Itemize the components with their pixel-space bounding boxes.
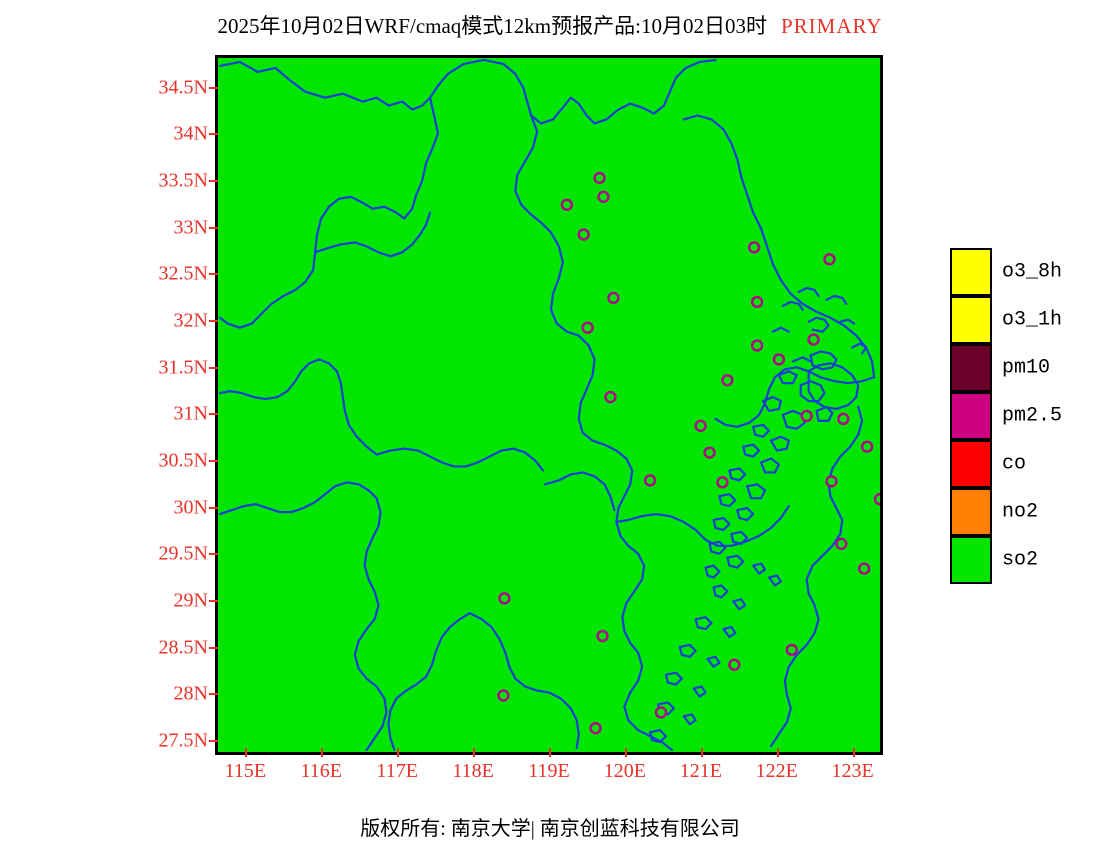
- y-axis-tick-mark: [209, 320, 218, 322]
- x-axis-tick-mark: [777, 748, 779, 757]
- x-axis-tick-mark: [549, 748, 551, 757]
- y-axis-tick-mark: [209, 87, 218, 89]
- y-axis-tick-mark: [209, 600, 218, 602]
- x-axis-tick-label: 120E: [604, 760, 646, 783]
- x-axis-tick-label: 123E: [832, 760, 874, 783]
- y-axis-tick-mark: [209, 180, 218, 182]
- legend-label-text: o3_1h: [1002, 309, 1062, 332]
- x-axis-tick-label: 116E: [301, 760, 342, 783]
- legend-item-so2[interactable]: so2: [950, 536, 1090, 584]
- legend-item-pm2-5[interactable]: pm2.5: [950, 392, 1090, 440]
- legend-color-swatch: [950, 488, 992, 536]
- x-axis-tick-mark: [701, 748, 703, 757]
- y-axis-tick-mark: [209, 553, 218, 555]
- x-axis-tick-mark: [853, 748, 855, 757]
- legend-label-text: co: [1002, 453, 1026, 476]
- legend-color-swatch: [950, 536, 992, 584]
- y-axis-tick-mark: [209, 740, 218, 742]
- x-axis-tick-mark: [245, 748, 247, 757]
- y-axis-tick-mark: [209, 647, 218, 649]
- legend-label-text: pm2.5: [1002, 405, 1062, 428]
- legend-color-swatch: [950, 440, 992, 488]
- y-axis-tick-mark: [209, 460, 218, 462]
- pollutant-legend: o3_8ho3_1hpm10pm2.5cono2so2: [950, 248, 1090, 584]
- legend-item-pm10[interactable]: pm10: [950, 344, 1090, 392]
- legend-color-swatch: [950, 296, 992, 344]
- y-axis-tick-mark: [209, 227, 218, 229]
- x-axis-tick-mark: [321, 748, 323, 757]
- x-axis-tick-label: 121E: [680, 760, 722, 783]
- legend-color-swatch: [950, 344, 992, 392]
- x-axis-tick-mark: [397, 748, 399, 757]
- legend-item-o3-1h[interactable]: o3_1h: [950, 296, 1090, 344]
- legend-item-o3-8h[interactable]: o3_8h: [950, 248, 1090, 296]
- x-axis-tick-label: 118E: [452, 760, 493, 783]
- x-axis-tick-label: 119E: [528, 760, 569, 783]
- legend-color-swatch: [950, 392, 992, 440]
- y-axis-tick-mark: [209, 693, 218, 695]
- x-axis-tick-label: 115E: [225, 760, 266, 783]
- y-axis-tick-mark: [209, 507, 218, 509]
- legend-label-text: pm10: [1002, 357, 1050, 380]
- y-axis-tick-mark: [209, 273, 218, 275]
- legend-color-swatch: [950, 248, 992, 296]
- x-axis-tick-mark: [473, 748, 475, 757]
- y-axis-tick-mark: [209, 133, 218, 135]
- x-axis-tick-label: 122E: [756, 760, 798, 783]
- x-axis-tick-label: 117E: [376, 760, 417, 783]
- legend-label-text: no2: [1002, 501, 1038, 524]
- y-axis-tick-mark: [209, 413, 218, 415]
- legend-item-no2[interactable]: no2: [950, 488, 1090, 536]
- legend-label-text: o3_8h: [1002, 261, 1062, 284]
- copyright-footer: 版权所有: 南京大学| 南京创蓝科技有限公司: [0, 812, 1100, 841]
- y-axis-tick-mark: [209, 367, 218, 369]
- legend-label-text: so2: [1002, 549, 1038, 572]
- x-axis: 115E116E117E118E119E120E121E122E123E: [0, 0, 1100, 850]
- legend-item-co[interactable]: co: [950, 440, 1090, 488]
- x-axis-tick-mark: [625, 748, 627, 757]
